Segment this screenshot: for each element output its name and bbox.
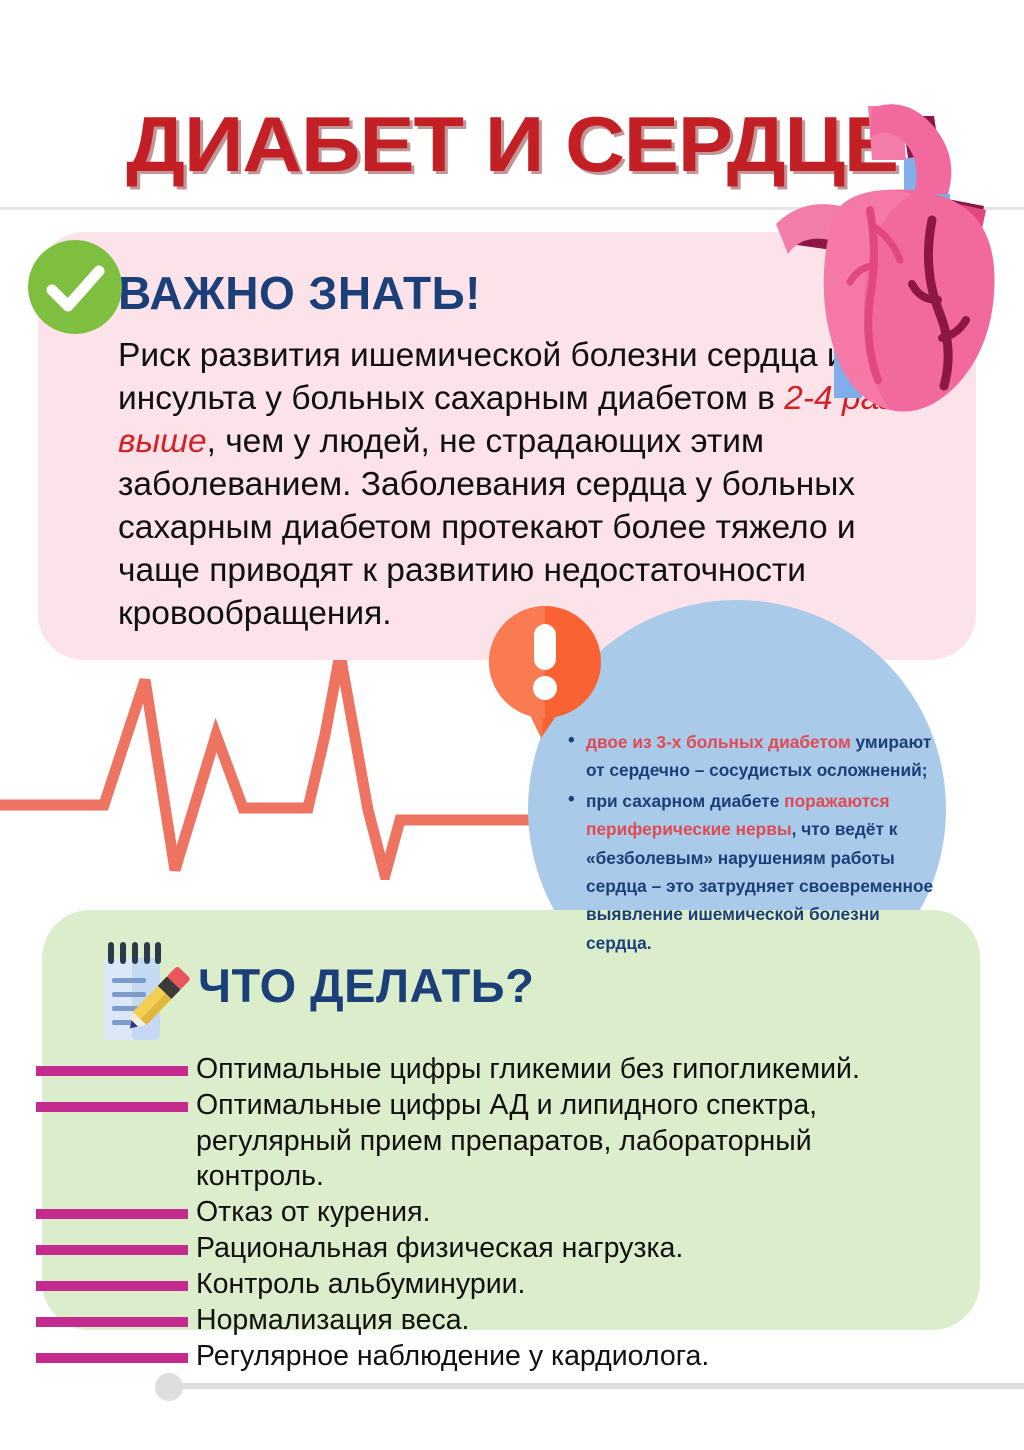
- fact-text-2a: при сахарном диабете: [586, 791, 784, 811]
- important-heading: ВАЖНО ЗНАТЬ!: [118, 266, 481, 320]
- dash-bullet-icon: [36, 1245, 188, 1255]
- notepad-pencil-icon: [96, 940, 192, 1044]
- list-item: Отказ от курения.: [36, 1195, 936, 1231]
- list-item: Контроль альбуминурии.: [36, 1267, 936, 1303]
- exclamation-bubble-icon: [483, 604, 607, 738]
- dash-bullet-icon: [36, 1353, 188, 1363]
- todo-item-label: Оптимальные цифры АД и липидного спектра…: [196, 1088, 936, 1195]
- todo-item-label: Оптимальные цифры гликемии без гипоглике…: [196, 1052, 936, 1088]
- important-body-part-1: Риск развития ишемической болезни сердца…: [118, 337, 884, 417]
- list-item: Рациональная физическая нагрузка.: [36, 1231, 936, 1267]
- todo-list: Оптимальные цифры гликемии без гипоглике…: [36, 1052, 936, 1375]
- list-item: двое из 3-х больных диабетом умирают от …: [566, 728, 944, 785]
- todo-item-label: Контроль альбуминурии.: [196, 1267, 936, 1303]
- fact-highlight-1: двое из 3-х больных диабетом: [586, 732, 851, 752]
- list-item: Оптимальные цифры АД и липидного спектра…: [36, 1088, 936, 1195]
- check-circle-icon: [28, 240, 122, 334]
- pin-dot-icon: [155, 1373, 183, 1401]
- dash-bullet-icon: [36, 1102, 188, 1112]
- todo-heading: ЧТО ДЕЛАТЬ?: [198, 958, 534, 1013]
- important-body-part-3: , чем у людей, не страдающих этим заболе…: [118, 423, 856, 632]
- todo-item-label: Рациональная физическая нагрузка.: [196, 1231, 936, 1267]
- fact-text-2b: , что ведёт к «безболевым» нарушениям ра…: [586, 819, 933, 953]
- pin-divider-line: [176, 1383, 1024, 1389]
- heartbeat-pulse-line-icon: [0, 660, 540, 880]
- dash-bullet-icon: [36, 1281, 188, 1291]
- list-item: при сахарном диабете поражаются перифери…: [566, 787, 944, 957]
- dash-bullet-icon: [36, 1066, 188, 1076]
- list-item: Регулярное наблюдение у кардиолога.: [36, 1339, 936, 1375]
- list-item: Нормализация веса.: [36, 1303, 936, 1339]
- dash-bullet-icon: [36, 1209, 188, 1219]
- infographic-poster: ДИАБЕТ И СЕРДЦЕ: [0, 0, 1024, 1450]
- dash-bullet-icon: [36, 1317, 188, 1327]
- todo-item-label: Регулярное наблюдение у кардиолога.: [196, 1339, 936, 1375]
- todo-item-label: Отказ от курения.: [196, 1195, 936, 1231]
- list-item: Оптимальные цифры гликемии без гипоглике…: [36, 1052, 936, 1088]
- todo-item-label: Нормализация веса.: [196, 1303, 936, 1339]
- anatomical-heart-icon: [772, 98, 1024, 423]
- facts-list: двое из 3-х больных диабетом умирают от …: [566, 728, 944, 959]
